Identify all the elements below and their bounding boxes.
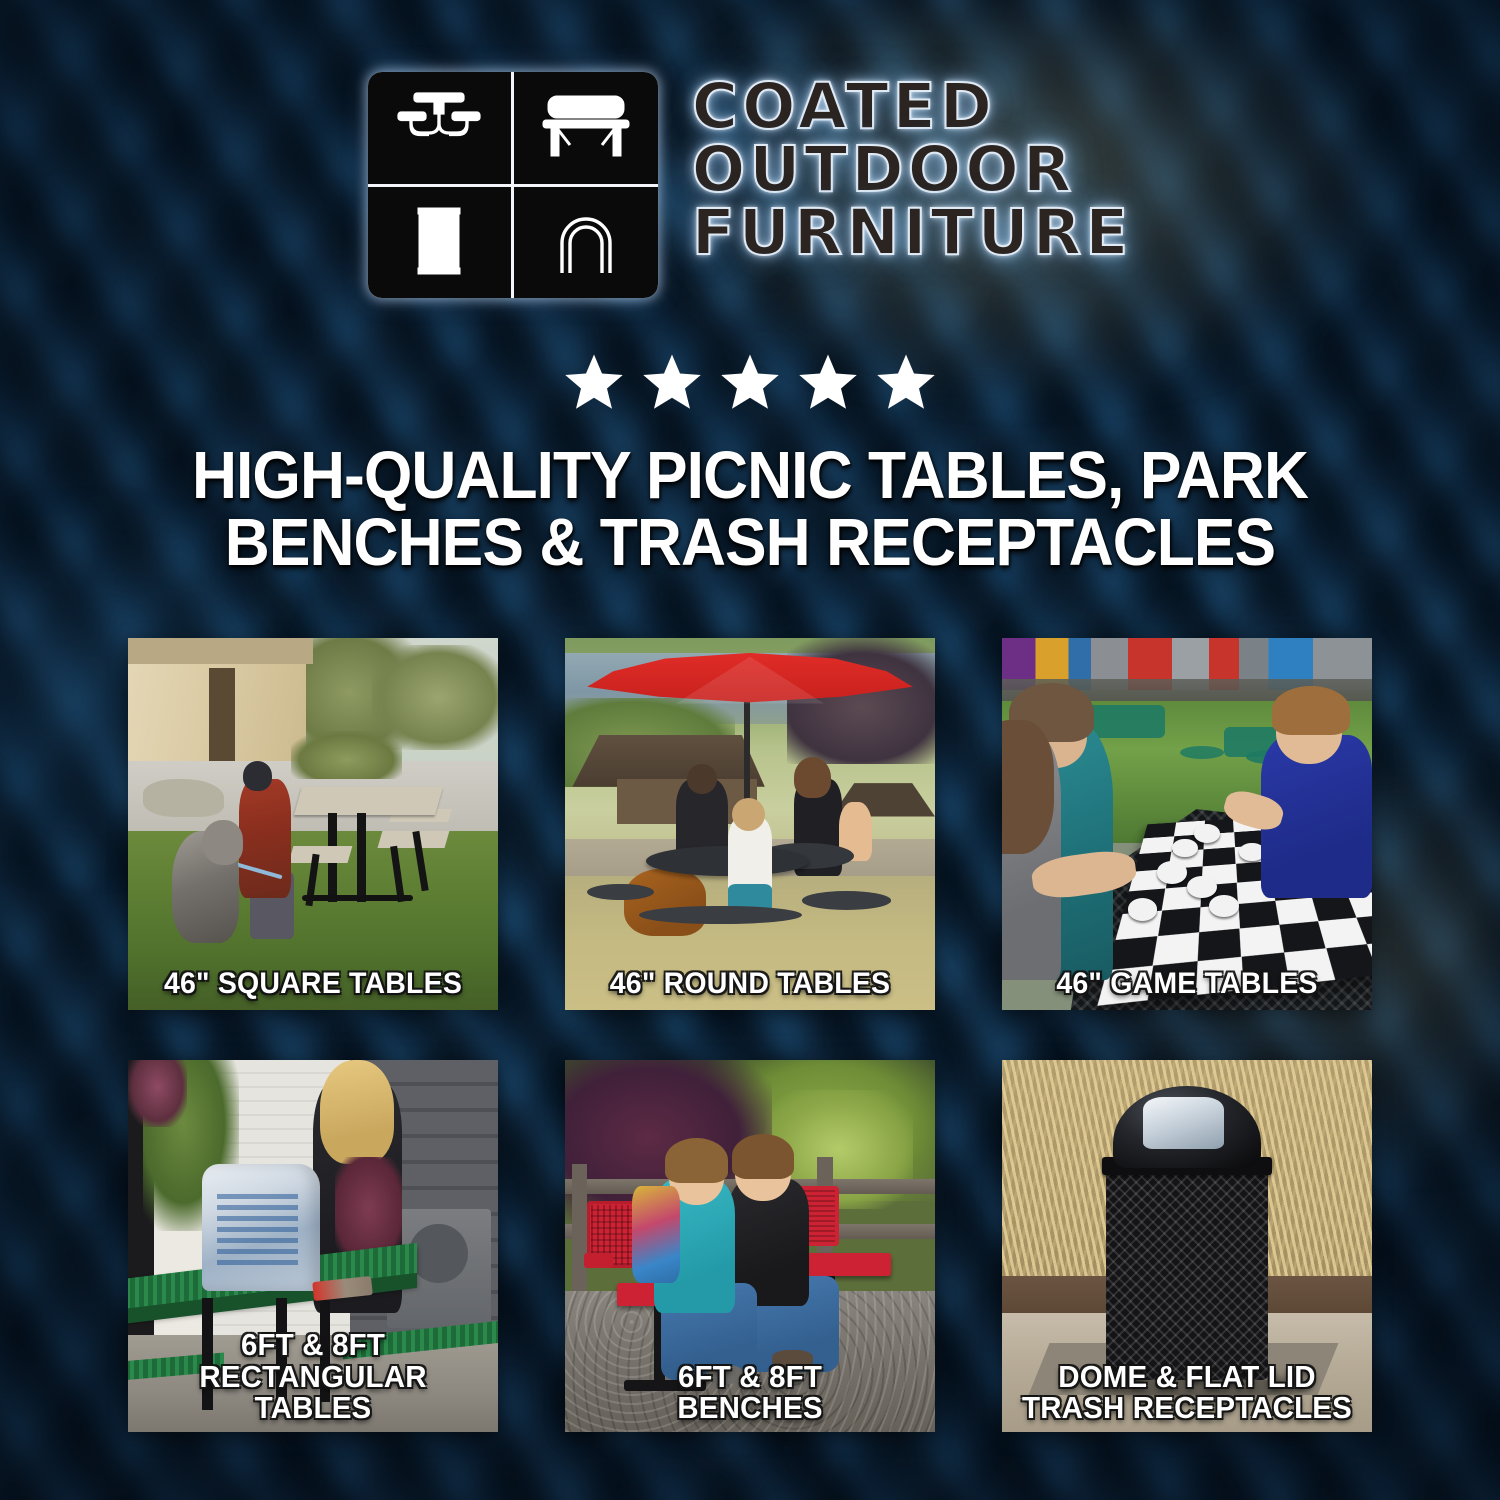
headline-line-1: HIGH-QUALITY PICNIC TABLES, PARK <box>192 438 1308 513</box>
product-label-line-1: 46" GAME TABLES <box>1011 969 1363 1000</box>
banner-root: COATED OUTDOOR FURNITURE HIGH-QUALITY PI… <box>0 0 1500 1500</box>
product-tile-label: DOME & FLAT LID TRASH RECEPTACLES <box>1011 1361 1363 1424</box>
product-tile-rectangular-tables[interactable]: 6FT & 8FT RECTANGULAR TABLES <box>128 1060 498 1432</box>
star-rating <box>0 352 1500 412</box>
brand-name-line-1: COATED <box>692 76 1133 137</box>
round-tables-photo <box>565 638 935 1010</box>
headline-line-2: BENCHES & TRASH RECEPTACLES <box>53 509 1448 576</box>
star-icon <box>563 352 625 412</box>
product-label-line-1: 6FT & 8FT <box>137 1329 489 1361</box>
bench-icon <box>514 72 658 184</box>
product-tile-label: 46" SQUARE TABLES <box>137 969 489 1000</box>
brand-wordmark: COATED OUTDOOR FURNITURE <box>692 72 1133 263</box>
star-icon <box>719 352 781 412</box>
product-label-line-1: 6FT & 8FT <box>574 1361 926 1393</box>
brand-logo: COATED OUTDOOR FURNITURE <box>0 72 1500 298</box>
product-label-line-2: BENCHES <box>574 1392 926 1424</box>
product-tile-label: 6FT & 8FT BENCHES <box>574 1361 926 1424</box>
product-tile-trash-receptacles[interactable]: DOME & FLAT LID TRASH RECEPTACLES <box>1002 1060 1372 1432</box>
bike-rack-arch-icon <box>514 187 658 299</box>
brand-name-line-3: FURNITURE <box>692 202 1133 263</box>
headline: HIGH-QUALITY PICNIC TABLES, PARK BENCHES… <box>53 442 1448 576</box>
product-tile-round-tables[interactable]: 46" ROUND TABLES <box>565 638 935 1010</box>
picnic-table-icon <box>368 72 512 184</box>
product-tile-label: 6FT & 8FT RECTANGULAR TABLES <box>137 1329 489 1424</box>
trash-receptacle-icon <box>368 187 512 299</box>
product-label-line-2: TRASH RECEPTACLES <box>1011 1392 1363 1424</box>
product-label-line-1: 46" SQUARE TABLES <box>137 969 489 1000</box>
product-tile-label: 46" ROUND TABLES <box>574 969 926 1000</box>
product-tile-label: 46" GAME TABLES <box>1011 969 1363 1000</box>
star-icon <box>641 352 703 412</box>
game-tables-photo <box>1002 638 1372 1010</box>
brand-name-line-2: OUTDOOR <box>692 139 1133 200</box>
product-tile-game-tables[interactable]: 46" GAME TABLES <box>1002 638 1372 1010</box>
product-label-line-2: RECTANGULAR TABLES <box>137 1361 489 1424</box>
square-tables-photo <box>128 638 498 1010</box>
star-icon <box>797 352 859 412</box>
product-tile-benches[interactable]: 6FT & 8FT BENCHES <box>565 1060 935 1432</box>
product-label-line-1: 46" ROUND TABLES <box>574 969 926 1000</box>
product-grid: 46" SQUARE TABLES 46" ROUND TABLES <box>128 638 1372 1432</box>
star-icon <box>875 352 937 412</box>
product-tile-square-tables[interactable]: 46" SQUARE TABLES <box>128 638 498 1010</box>
product-label-line-1: DOME & FLAT LID <box>1011 1361 1363 1393</box>
logo-icon-grid <box>368 72 658 298</box>
